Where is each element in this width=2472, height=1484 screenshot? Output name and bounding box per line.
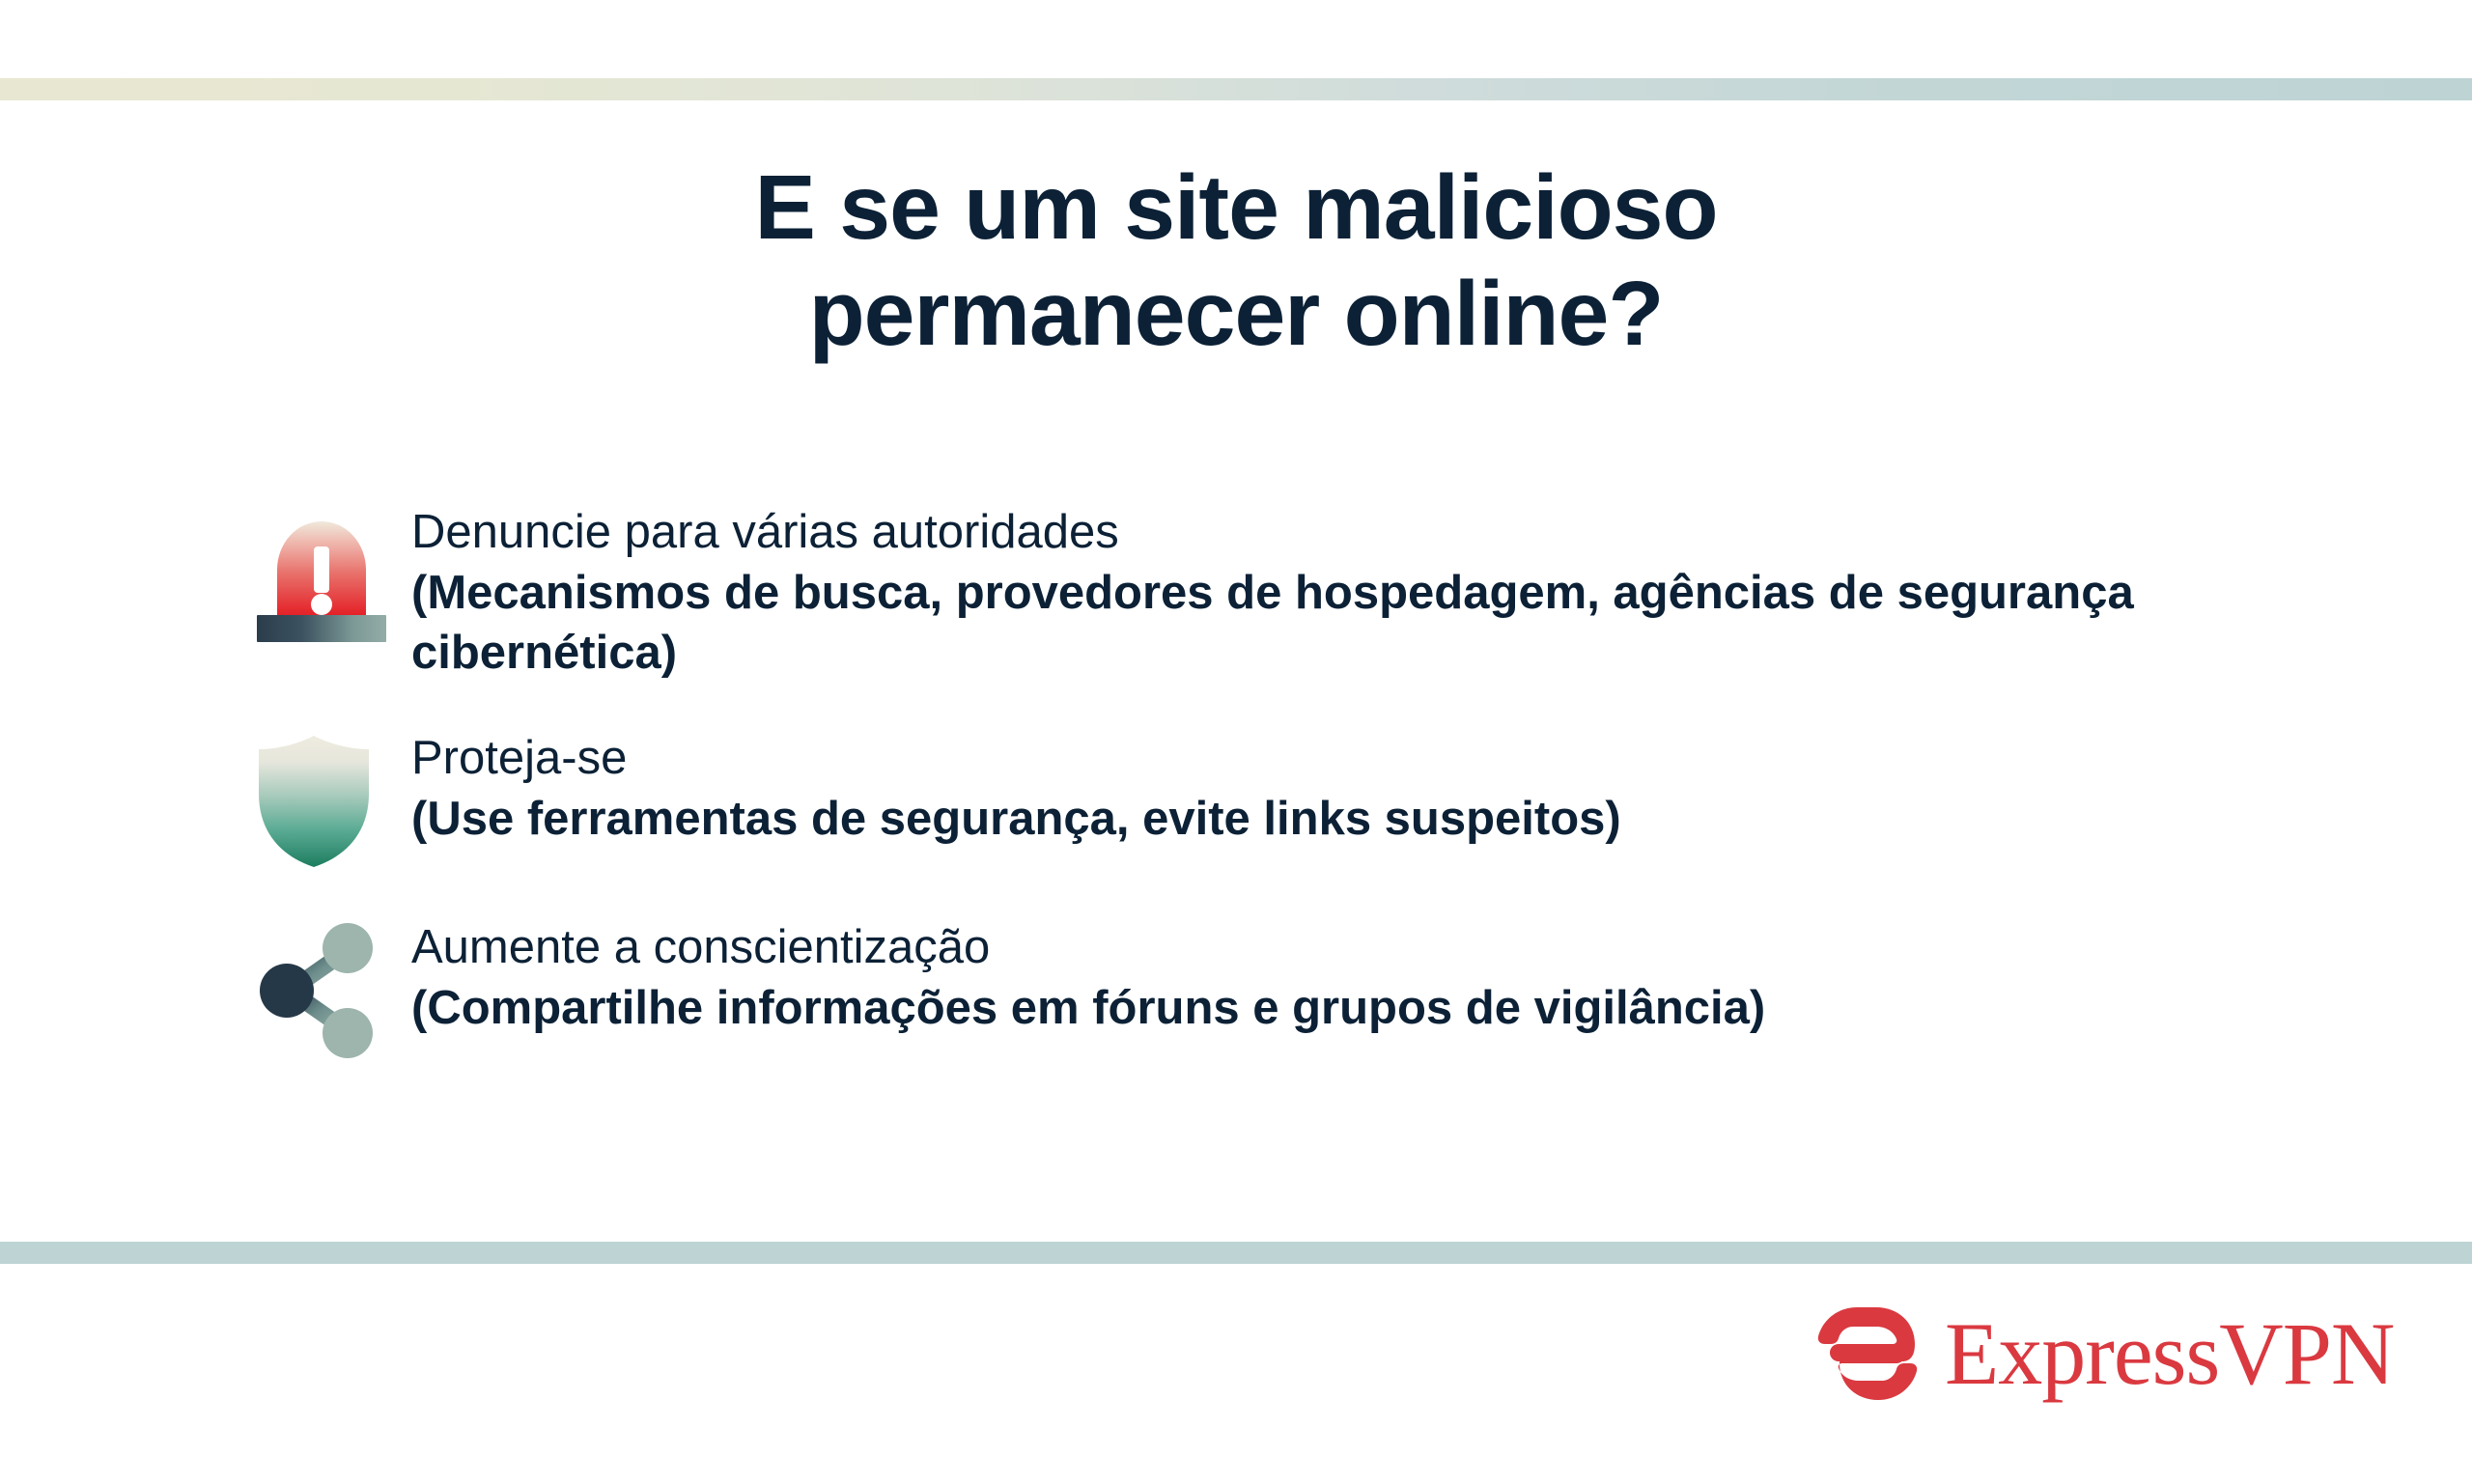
bottom-accent-rule [0, 1242, 2472, 1264]
list-item-detail: (Compartilhe informações em fóruns e gru… [411, 978, 1765, 1039]
page-title-line-2: permanecer online? [0, 261, 2472, 367]
list-item: Proteja-se (Use ferramentas de segurança… [257, 728, 2381, 873]
list-item-detail: (Use ferramentas de segurança, evite lin… [411, 789, 1621, 850]
page-title-line-1: E se um site malicioso [0, 154, 2472, 261]
expressvpn-wordmark: ExpressVPN [1945, 1309, 2394, 1398]
share-nodes-icon [257, 917, 411, 1062]
list-item-heading: Denuncie para várias autoridades [411, 502, 2343, 563]
list-item-text: Proteja-se (Use ferramentas de segurança… [411, 728, 1621, 849]
list-item: Aumente a conscientização (Compartilhe i… [257, 917, 2381, 1062]
expressvpn-logo: ExpressVPN [1815, 1302, 2394, 1406]
list-item-text: Aumente a conscientização (Compartilhe i… [411, 917, 1765, 1038]
top-accent-rule [0, 78, 2472, 100]
page-title: E se um site malicioso permanecer online… [0, 154, 2472, 367]
bullet-list: Denuncie para várias autoridades (Mecani… [257, 502, 2381, 1062]
list-item: Denuncie para várias autoridades (Mecani… [257, 502, 2381, 684]
slide-root: E se um site malicioso permanecer online… [0, 0, 2472, 1484]
list-item-heading: Aumente a conscientização [411, 917, 1765, 978]
list-item-heading: Proteja-se [411, 728, 1621, 789]
expressvpn-e-mark-icon [1815, 1302, 1920, 1406]
shield-icon [257, 728, 411, 873]
list-item-detail: (Mecanismos de busca, provedores de hosp… [411, 563, 2343, 684]
alarm-siren-icon [257, 502, 411, 647]
list-item-text: Denuncie para várias autoridades (Mecani… [411, 502, 2343, 684]
